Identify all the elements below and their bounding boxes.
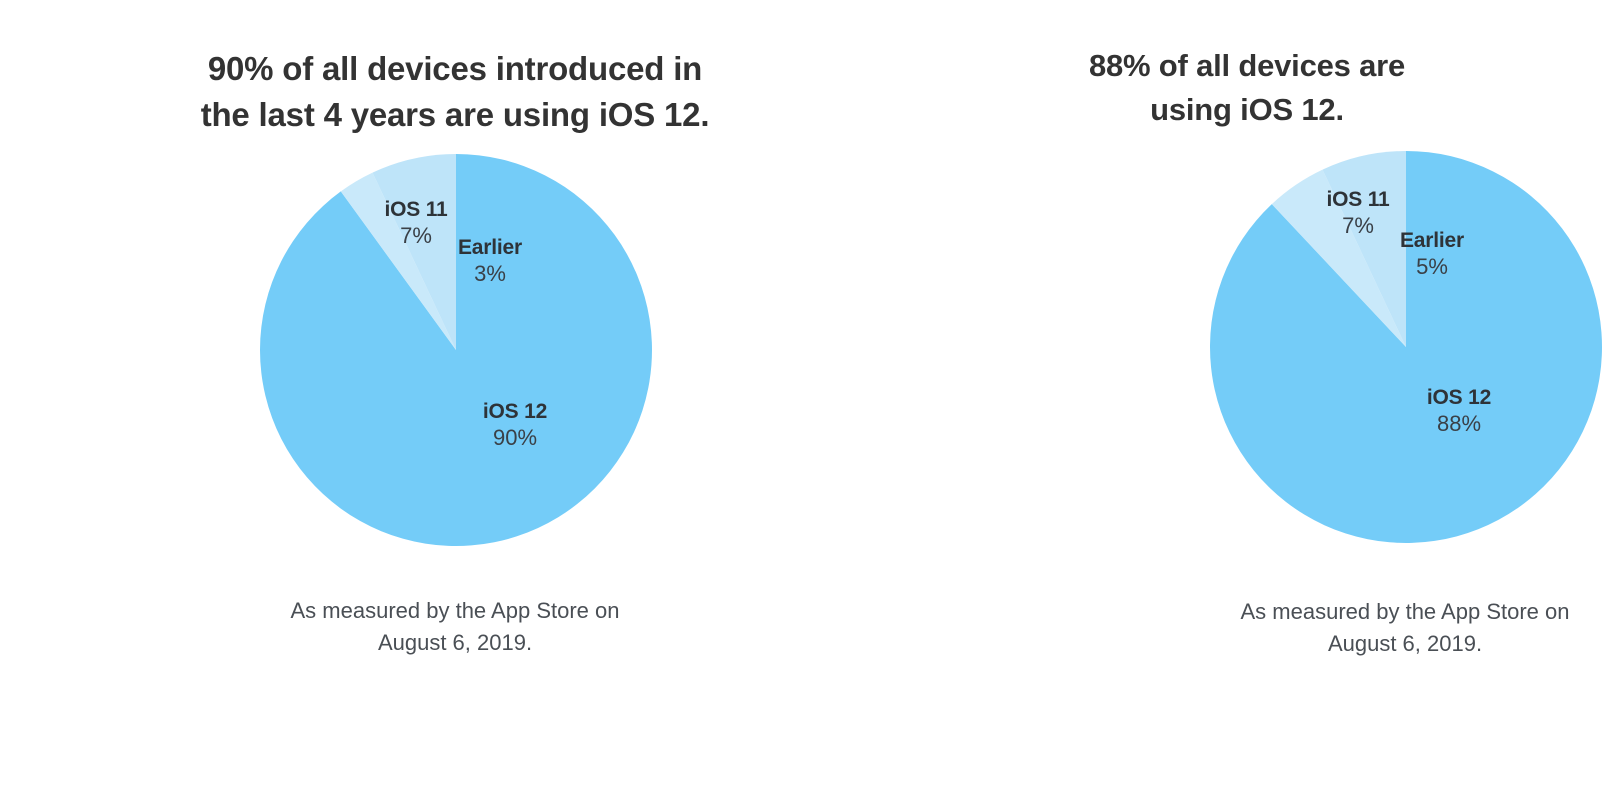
charts-container: 90% of all devices introduced in the las… bbox=[0, 0, 1624, 812]
chart-footnote-left: As measured by the App Store on August 6… bbox=[240, 595, 670, 659]
pie-slices-right bbox=[1210, 151, 1602, 543]
chart-panel-left: 90% of all devices introduced in the las… bbox=[0, 0, 870, 812]
chart-title-left: 90% of all devices introduced in the las… bbox=[175, 46, 735, 138]
chart-title-right: 88% of all devices are using iOS 12. bbox=[1037, 44, 1457, 132]
chart-panel-right: 88% of all devices are using iOS 12. iOS… bbox=[870, 0, 1624, 812]
pie-svg-right bbox=[1209, 150, 1603, 544]
pie-svg-left bbox=[259, 153, 653, 547]
pie-slices-left bbox=[260, 154, 652, 546]
pie-chart-right: iOS 11 7% Earlier 5% iOS 12 88% bbox=[1209, 150, 1603, 544]
pie-chart-left: iOS 11 7% Earlier 3% iOS 12 90% bbox=[259, 153, 653, 547]
chart-footnote-right: As measured by the App Store on August 6… bbox=[1190, 596, 1620, 660]
